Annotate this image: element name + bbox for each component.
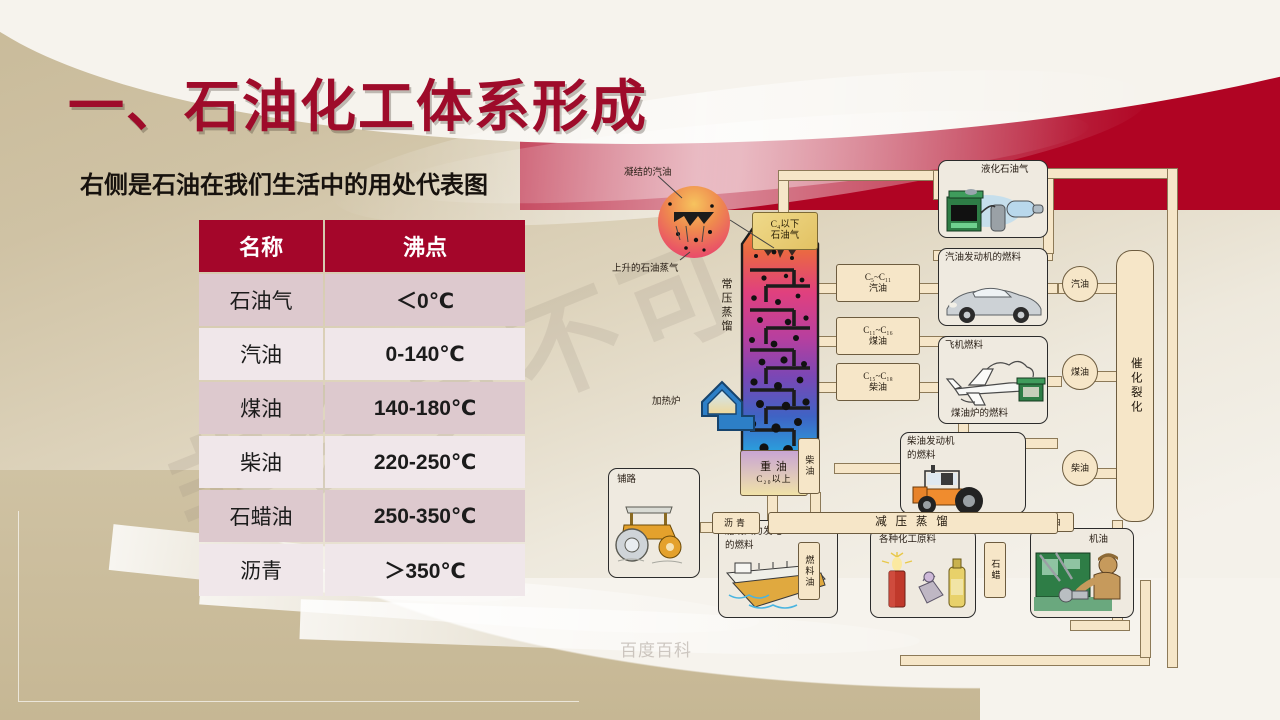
panel-plane-kerostove: 飞机燃料 煤油炉的燃料 [938, 336, 1048, 424]
subtitle-text: 右侧是石油在我们生活中的用处代表图 [80, 165, 488, 200]
cell-name: 石蜡油 [199, 490, 323, 542]
panel-caption: 各种化工原料 [879, 535, 936, 546]
node-kerosene: 煤油 [1062, 354, 1098, 390]
cell-boiling-point: 0-140℃ [325, 328, 525, 380]
panel-ship: 船或火力发电 的燃料 [718, 520, 838, 618]
boiling-point-table: 名称 沸点 石油气 ＜0℃ 汽油 0-140℃ 煤油 140-180℃ 柴油 2… [197, 218, 527, 598]
panel-car: 汽油发动机的燃料 [938, 248, 1048, 326]
page-title: 一、石油化工体系形成 [68, 62, 648, 143]
cut-formula: C₁₁~C₁₆ [863, 325, 892, 336]
node-diesel-middle: 柴油 [798, 438, 820, 494]
panel-caption: 机油 [1089, 535, 1108, 546]
cell-boiling-point: 220-250℃ [325, 436, 525, 488]
panel-caption: 飞机燃料 [945, 341, 983, 352]
tower-label: 常压蒸馏 [718, 278, 734, 334]
top-white-strip [0, 0, 1280, 12]
cell-boiling-point: 140-180℃ [325, 382, 525, 434]
panel-caption: 铺路 [617, 475, 636, 486]
panel-caption: 煤油炉的燃料 [951, 409, 1008, 420]
table-header-name: 名称 [199, 220, 323, 272]
cell-boiling-point: ＜0℃ [325, 274, 525, 326]
table-row: 汽油 0-140℃ [199, 328, 525, 380]
cell-boiling-point: ＞350℃ [325, 544, 525, 596]
table-row: 煤油 140-180℃ [199, 382, 525, 434]
cut-formula: C₅~C₁₁ [865, 272, 891, 283]
petroleum-refining-diagram: 常压蒸馏 C₄以下 石油气 [600, 150, 1270, 670]
pipe-cracker-lube [1070, 620, 1130, 631]
cut-name: 汽油 [869, 283, 887, 294]
cut-box-kerosene: C₁₁~C₁₆ 煤油 [836, 317, 920, 355]
node-paraffin: 石蜡 [984, 542, 1006, 598]
panel-lpg: 液化石油气 [938, 160, 1048, 238]
road-roller-illustration [612, 491, 698, 567]
slide: 一、石油化工体系形成 右侧是石油在我们生活中的用处代表图 非会员不可 百度百科 … [0, 0, 1280, 720]
panel-caption: 汽油发动机的燃料 [945, 253, 1021, 264]
node-vacuum-distillation: 减 压 蒸 馏 [768, 512, 1058, 534]
panel-caption: 液化石油气 [981, 165, 1029, 176]
panel-road-roller: 铺路 [608, 468, 700, 578]
panel-caption: 柴油发动机 [907, 437, 955, 448]
panel-caption: 的燃料 [725, 541, 754, 552]
cell-name: 沥青 [199, 544, 323, 596]
mechanic-illustration [1034, 551, 1132, 615]
table-header-boiling-point: 沸点 [325, 220, 525, 272]
cell-boiling-point: 250-350℃ [325, 490, 525, 542]
heavy-oil-line2: C₂₀以上 [756, 474, 791, 485]
pipe-lpg-top-right [1043, 168, 1178, 179]
table-row: 柴油 220-250℃ [199, 436, 525, 488]
cell-name: 石油气 [199, 274, 323, 326]
callout-furnace: 加热炉 [652, 393, 681, 407]
table-row: 石蜡油 250-350℃ [199, 490, 525, 542]
cut-formula: C₁₅~C₁₈ [863, 371, 892, 382]
table-header-row: 名称 沸点 [199, 220, 525, 272]
plane-illustration [939, 353, 1048, 407]
node-asphalt: 沥青 [712, 512, 760, 534]
tractor-illustration [907, 459, 1026, 514]
pipe-tower-to-lpg-h [778, 170, 938, 181]
cut-name: 柴油 [869, 382, 887, 393]
panel-chemicals: 各种化工原料 [870, 528, 976, 618]
pipe-far-right-main [1167, 168, 1178, 668]
cut-box-diesel: C₁₅~C₁₈ 柴油 [836, 363, 920, 401]
pipe-tractor-in [834, 463, 906, 474]
node-gasoline: 汽油 [1062, 266, 1098, 302]
table-row: 沥青 ＞350℃ [199, 544, 525, 596]
node-fuel-oil: 燃料油 [798, 542, 820, 600]
callout-condensed-gasoline: 凝结的汽油 [624, 164, 672, 178]
cut-name: 煤油 [869, 336, 887, 347]
cell-name: 汽油 [199, 328, 323, 380]
cell-name: 柴油 [199, 436, 323, 488]
pipe-bottom-return [900, 655, 1150, 666]
chemicals-illustration [875, 551, 975, 615]
callout-rising-vapor: 上升的石油蒸气 [612, 260, 679, 274]
node-catalytic-cracking: 催化裂化 [1116, 250, 1154, 522]
heavy-oil-line1: 重 油 [760, 461, 788, 475]
cut-box-gasoline: C₅~C₁₁ 汽油 [836, 264, 920, 302]
heating-furnace-icon [696, 378, 758, 434]
cell-name: 煤油 [199, 382, 323, 434]
node-diesel-right: 柴油 [1062, 450, 1098, 486]
lpg-illustration [939, 179, 1048, 238]
panel-tractor: 柴油发动机 的燃料 [900, 432, 1026, 514]
panel-engine-oil: 机油 [1030, 528, 1134, 618]
car-illustration [939, 269, 1048, 326]
pipe-bottom-return-v [1140, 580, 1151, 658]
table-row: 石油气 ＜0℃ [199, 274, 525, 326]
